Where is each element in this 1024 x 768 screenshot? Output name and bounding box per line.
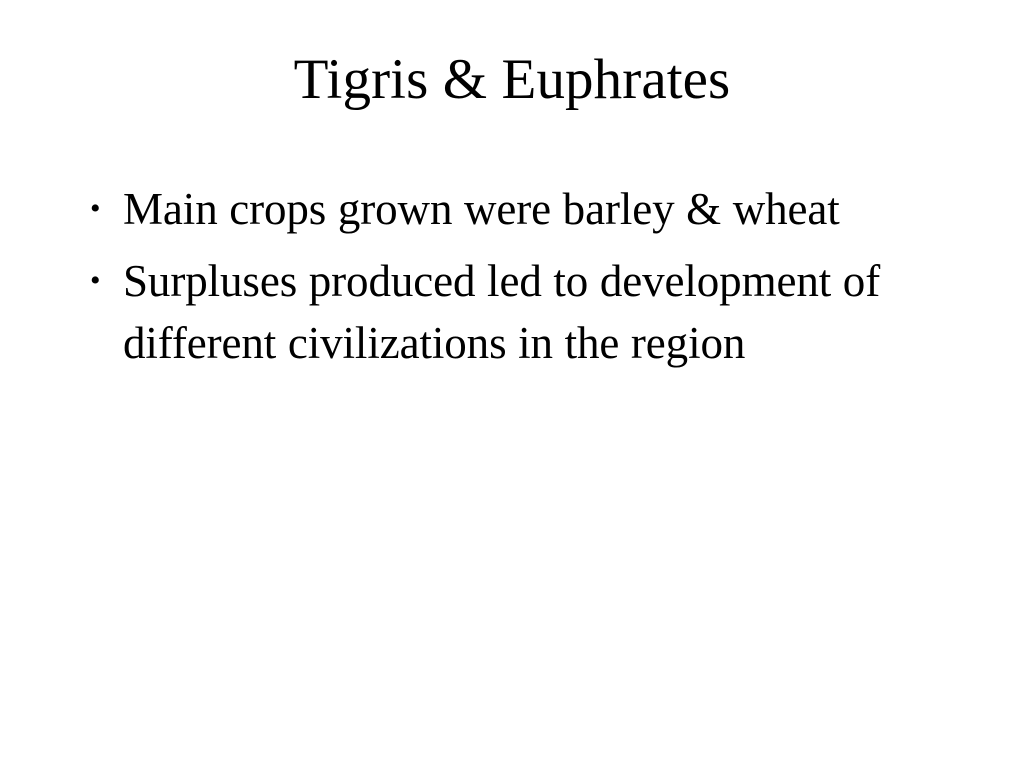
slide-title: Tigris & Euphrates: [0, 48, 1024, 112]
bullet-point-icon: •: [90, 178, 112, 240]
slide-body-content: • Main crops grown were barley & wheat •…: [82, 178, 954, 374]
bullet-item-text: Surpluses produced led to development of…: [123, 250, 954, 374]
bullet-list-item: • Main crops grown were barley & wheat: [82, 178, 954, 240]
slide-canvas: Tigris & Euphrates • Main crops grown we…: [0, 0, 1024, 768]
bullet-list-item: • Surpluses produced led to development …: [82, 250, 954, 374]
bullet-point-icon: •: [90, 250, 112, 312]
bullet-item-text: Main crops grown were barley & wheat: [123, 178, 954, 240]
